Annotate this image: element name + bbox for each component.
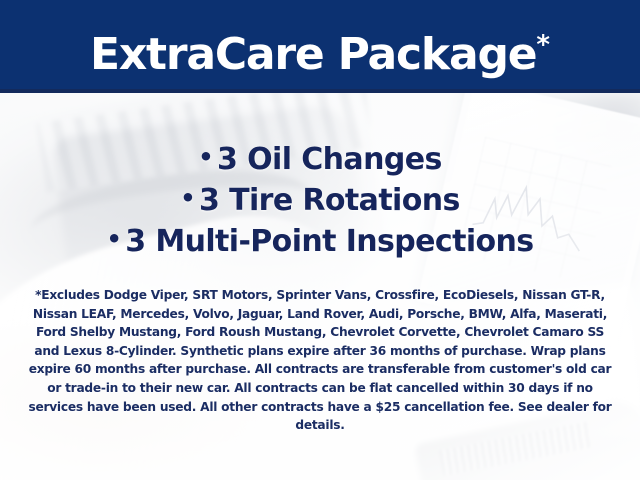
- page-title: ExtraCare Package*: [0, 17, 640, 83]
- page-title-asterisk: *: [536, 30, 550, 60]
- list-item: •3 Oil Changes: [0, 138, 640, 179]
- disclaimer-text: *Excludes Dodge Viper, SRT Motors, Sprin…: [26, 286, 614, 435]
- benefit-label: 3 Oil Changes: [217, 142, 442, 177]
- header-divider-rule: [0, 89, 640, 93]
- bullet-icon: •: [106, 225, 121, 253]
- list-item: •3 Multi-Point Inspections: [0, 220, 640, 261]
- list-item: •3 Tire Rotations: [0, 179, 640, 220]
- benefit-label: 3 Multi-Point Inspections: [125, 224, 533, 259]
- extracare-package-ad: ExtraCare Package* •3 Oil Changes •3 Tir…: [0, 0, 640, 480]
- benefits-list: •3 Oil Changes •3 Tire Rotations •3 Mult…: [0, 138, 640, 261]
- bullet-icon: •: [198, 143, 213, 171]
- page-title-text: ExtraCare Package: [90, 29, 536, 80]
- bullet-icon: •: [180, 184, 195, 212]
- benefit-label: 3 Tire Rotations: [199, 183, 460, 218]
